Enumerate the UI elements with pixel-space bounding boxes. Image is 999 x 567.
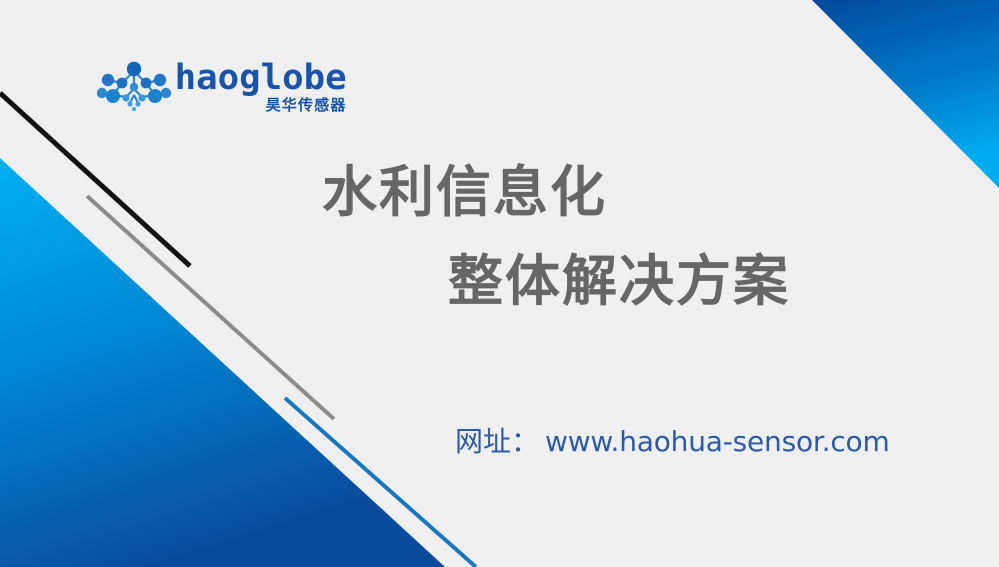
logo-wordmark: haoglobe (175, 62, 347, 95)
slide-canvas: haoglobe 昊华传感器 水利信息化 整体解决方案 网址： www.haoh… (0, 0, 999, 567)
website-url-value[interactable]: www.haohua-sensor.com (545, 425, 890, 458)
company-logo[interactable]: haoglobe 昊华传感器 (96, 56, 326, 122)
page-title: 水利信息化 整体解决方案 (300, 165, 920, 309)
website-url-label: 网址： (455, 420, 539, 460)
molecule-network-icon (96, 59, 172, 119)
website-url[interactable]: 网址： www.haohua-sensor.com (455, 420, 890, 460)
title-line-1: 水利信息化 (322, 165, 920, 220)
title-line-2: 整体解决方案 (448, 254, 920, 309)
logo-subtext: 昊华传感器 (266, 97, 347, 114)
logo-text-group: haoglobe 昊华传感器 (178, 62, 347, 116)
